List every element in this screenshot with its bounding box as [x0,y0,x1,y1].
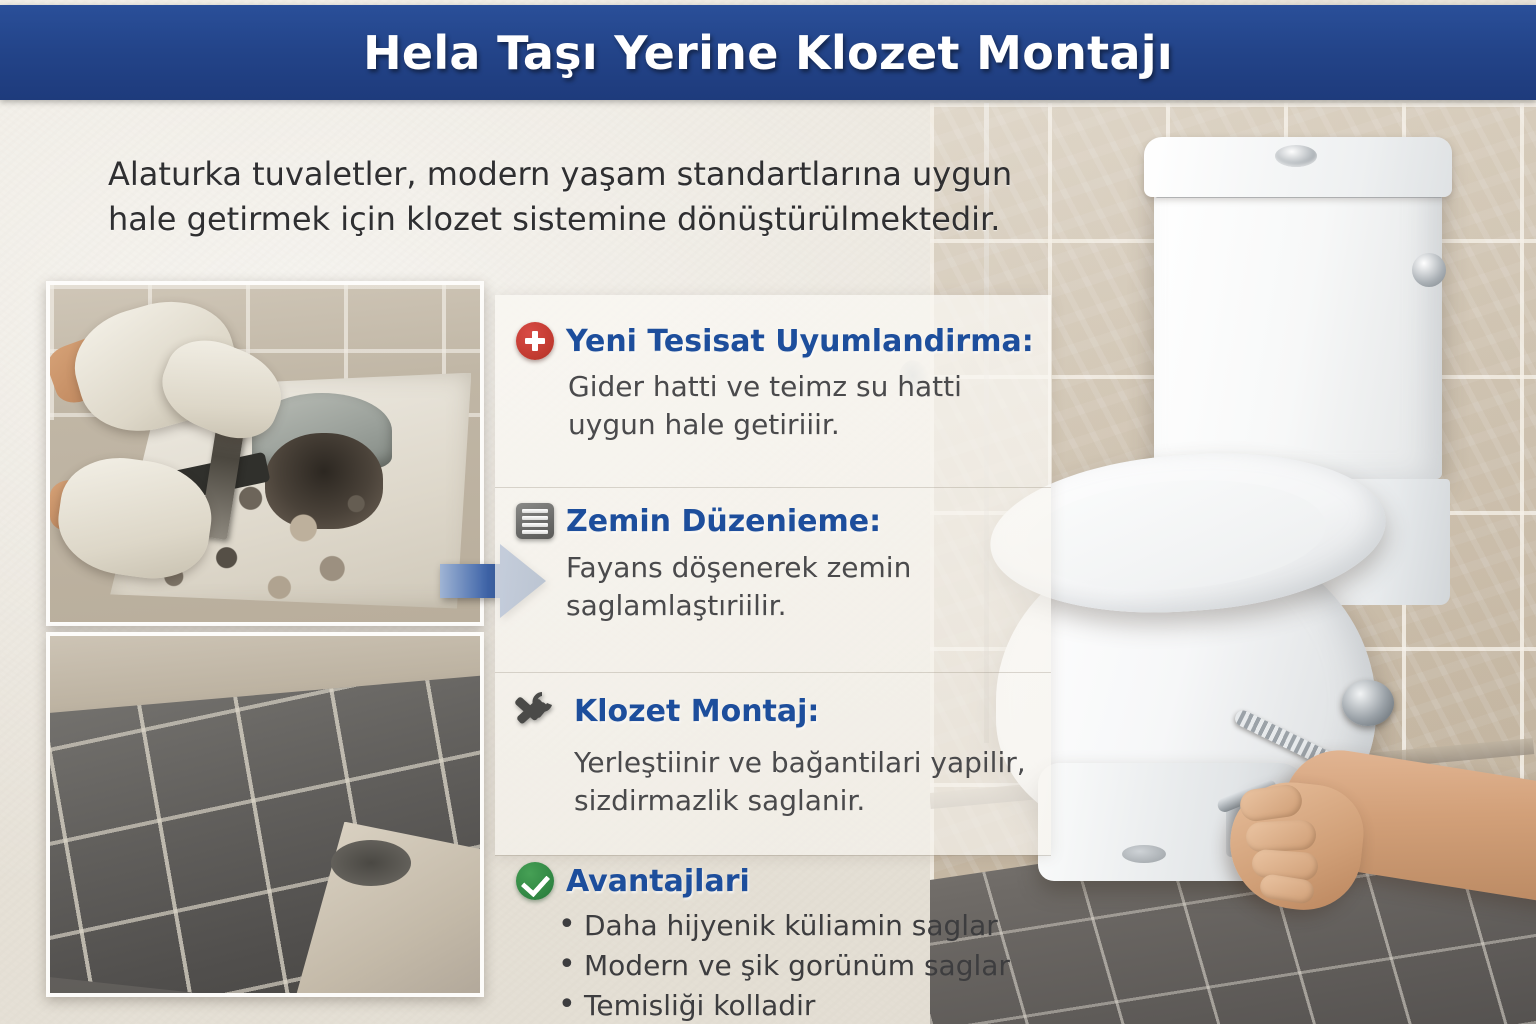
demolition-photo [46,281,484,626]
step-body: Yerleştiinir ve bağantilari yapilir, siz… [574,744,1026,820]
plus-circle-icon [516,322,554,360]
panel-divider [495,487,1051,488]
advantages-list: Daha hijyenik küliamin saglar Modern ve … [550,906,1010,1024]
step-body-line-2: uygun hale getiriiir. [568,406,1034,444]
flush-button-icon [1275,145,1317,167]
step-title: Klozet Montaj: [574,694,819,729]
step-item-floor: Zemin Düzenieme: Fayans döşenerek zemin … [516,503,911,625]
panel-divider [495,672,1051,673]
step-body: Fayans döşenerek zemin saglamlaştıriilir… [566,549,911,625]
toilet-tank [1154,149,1442,479]
tiled-floor-photo [46,632,484,997]
step-body-line-1: Gider hatti ve teimz su hatti [568,368,1034,406]
step-heading: Zemin Düzenieme: [516,503,911,539]
step-title: Yeni Tesisat Uyumlandirma: [566,324,1034,359]
list-item: Daha hijyenik küliamin saglar [550,906,1010,946]
wall-water-valve [1342,680,1394,726]
intro-paragraph: Alaturka tuvaletler, modern yaşam standa… [108,152,1038,243]
advantages-title: Avantajlari [566,864,750,899]
panel-divider [495,855,1051,856]
step-body-line-1: Fayans döşenerek zemin [566,549,911,587]
floor-patch [331,840,411,886]
finger [1245,819,1316,853]
floor-bolt-cap [1122,845,1166,863]
step-body-line-2: sizdirmazlik saglanir. [574,782,1026,820]
step-heading: Yeni Tesisat Uyumlandirma: [516,322,1034,360]
step-body-line-2: saglamlaştıriilir. [566,587,911,625]
step-item-plumbing: Yeni Tesisat Uyumlandirma: Gider hatti v… [516,322,1034,444]
tank-side-fitting [1412,253,1446,287]
advantages-heading: Avantajlari [516,862,1010,900]
step-heading: Klozet Montaj: [512,688,1026,734]
step-body: Gider hatti ve teimz su hatti uygun hale… [568,368,1034,444]
step-item-installation: Klozet Montaj: Yerleştiinir ve bağantila… [512,688,1026,820]
list-item: Temisliği kolladir [550,986,1010,1024]
page-title: Hela Taşı Yerine Klozet Montajı [363,26,1173,80]
title-banner: Hela Taşı Yerine Klozet Montajı [0,5,1536,100]
advantages-section: Avantajlari Daha hijyenik küliamin sagla… [516,862,1010,1024]
intro-line-1: Alaturka tuvaletler, modern yaşam standa… [108,152,1038,197]
wrench-screwdriver-icon [512,688,560,734]
intro-line-2: hale getirmek için klozet sistemine dönü… [108,197,1038,242]
step-body-line-1: Yerleştiinir ve bağantilari yapilir, [574,744,1026,782]
list-lines-icon [516,503,554,539]
infographic-canvas: Hela Taşı Yerine Klozet Montajı Alaturka… [0,0,1536,1024]
list-item: Modern ve şik gorünüm saglar [550,946,1010,986]
step-title: Zemin Düzenieme: [566,504,881,539]
check-circle-icon [516,862,554,900]
